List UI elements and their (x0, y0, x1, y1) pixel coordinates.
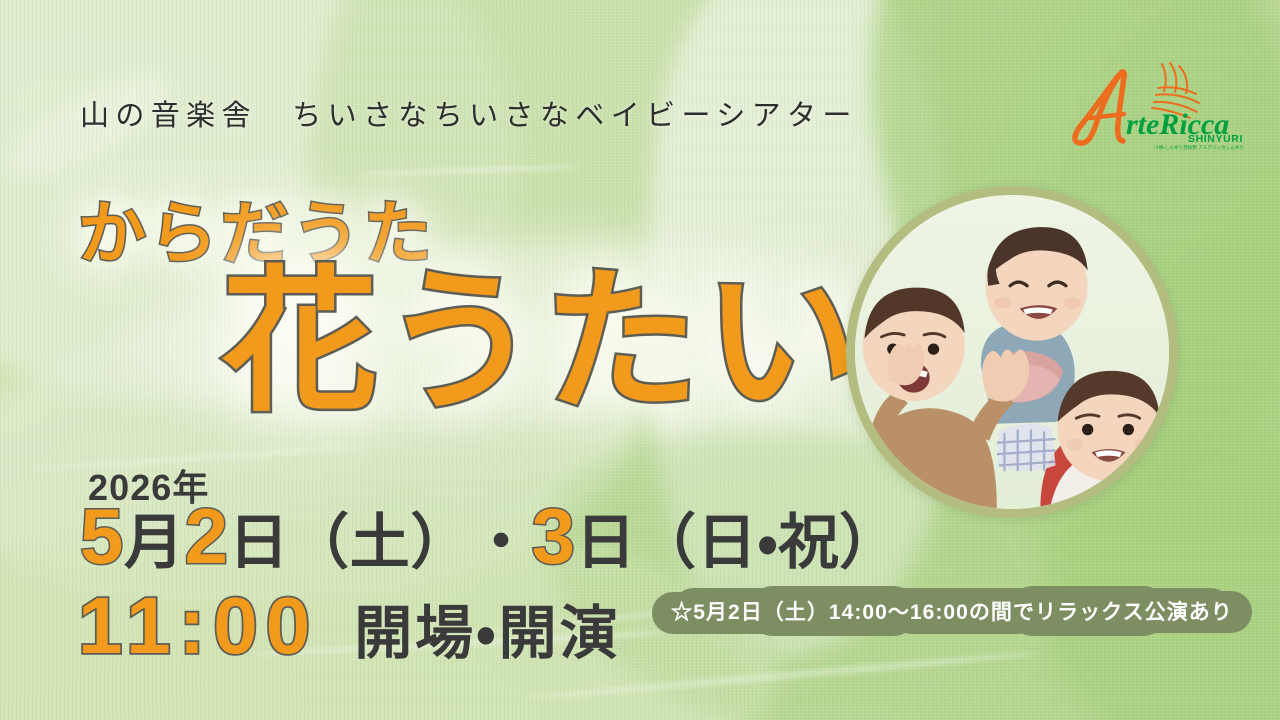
date-day1-number: 2 (185, 497, 229, 575)
logo-sub: SHINYURI (1188, 133, 1243, 145)
logo-tagline: 川崎・しんゆり芸術祭 アルテリッカしんゆり (1154, 144, 1244, 150)
poster-canvas: 山の音楽舎 ちいさなちいさなベイビーシアター rteRicca SHINYURI (0, 0, 1280, 720)
date-month-number: 5 (80, 497, 124, 575)
event-date: 5 月 2 日（土） ・ 3 日（日・祝） (80, 497, 900, 575)
date-separator: ・ (471, 513, 532, 573)
title-main: 花うたい (222, 262, 865, 426)
time-value: 11:00 (78, 586, 318, 666)
logo-letter-a (1075, 72, 1124, 143)
relax-performance-banner: ☆5月2日（土）14:00〜16:00の間でリラックス公演あり (652, 586, 1252, 636)
relax-note-text: ☆5月2日（土）14:00〜16:00の間でリラックス公演あり (652, 586, 1252, 636)
time-label: 開場・開演 (354, 605, 620, 663)
date-day2-label: 日（日・祝） (576, 513, 900, 573)
arteric­ca-logo[interactable]: rteRicca SHINYURI 川崎・しんゆり芸術祭 アルテリッカしんゆり (1066, 58, 1246, 150)
event-time: 11:00 開場・開演 (78, 586, 620, 666)
date-month-label: 月 (124, 513, 185, 573)
date-day1-label: 日（土） (229, 513, 471, 573)
poster-subtitle: 山の音楽舎 ちいさなちいさなベイビーシアター (80, 92, 858, 134)
baby-photo (846, 186, 1178, 518)
date-day2-number: 3 (532, 497, 576, 575)
